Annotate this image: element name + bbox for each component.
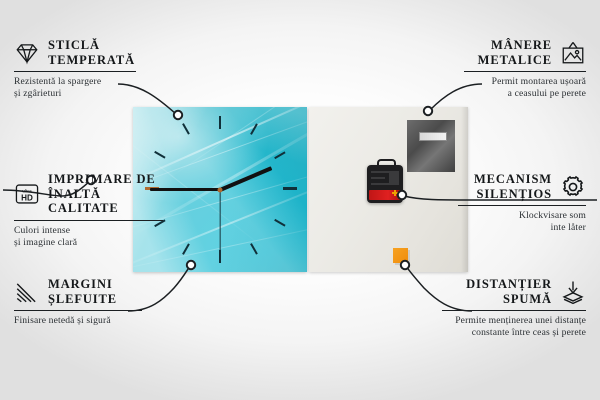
battery-plus-icon (392, 190, 398, 196)
hanger-slot (419, 132, 447, 141)
feature-polished-edges: MARGINI ȘLEFUITE Finisare netedă și sigu… (14, 277, 142, 327)
clock-back-panel (309, 107, 468, 272)
metal-hanger (407, 120, 455, 172)
feature-title: DISTANȚIER SPUMĂ (466, 277, 552, 306)
gear-icon (560, 174, 586, 200)
feature-title-row: MECANISM SILENȚIOS (458, 172, 586, 201)
feature-title-row: MÂNERE METALICE (464, 38, 586, 67)
ultra-hd-icon: ultra HD (14, 181, 40, 207)
feature-sub-line1: Permit montarea ușoară (464, 76, 586, 88)
diamond-icon (14, 40, 40, 66)
divider (458, 205, 586, 206)
svg-text:HD: HD (21, 193, 33, 202)
feature-sub-line1: Finisare netedă și sigură (14, 315, 142, 327)
feature-title-row: ultra HD IMPRIMARE DE ÎNALTĂ CALITATE (14, 172, 163, 216)
feature-title: MARGINI ȘLEFUITE (48, 277, 117, 306)
feature-sub-line2: inte låter (458, 222, 586, 234)
feature-metal-handles: MÂNERE METALICE Permit montarea ușoară a… (464, 38, 586, 100)
picture-frame-icon (560, 40, 586, 66)
diagonal-lines-icon (14, 279, 40, 305)
divider (14, 220, 163, 221)
feature-sub-line1: Klockvisare som (458, 210, 586, 222)
hands-center-cap (218, 187, 223, 192)
feature-title: IMPRIMARE DE ÎNALTĂ CALITATE (48, 172, 163, 216)
feature-title: MÂNERE METALICE (478, 38, 552, 67)
feature-sub-line2: a ceasului pe perete (464, 88, 586, 100)
second-hand (219, 190, 220, 262)
feature-title-row: MARGINI ȘLEFUITE (14, 277, 142, 306)
feature-sub-line2: și zgârieturi (14, 88, 136, 100)
feature-foam-spacer: DISTANȚIER SPUMĂ Permite menținerea unei… (442, 277, 586, 339)
divider (14, 310, 142, 311)
divider (442, 310, 586, 311)
feature-hd-print: ultra HD IMPRIMARE DE ÎNALTĂ CALITATE Cu… (14, 172, 163, 249)
feature-sub-line1: Culori intense (14, 225, 163, 237)
battery (369, 190, 401, 200)
feature-sub-line2: și imagine clară (14, 237, 163, 249)
divider (14, 71, 136, 72)
feature-tempered-glass: STICLĂ TEMPERATĂ Rezistentă la spargere … (14, 38, 136, 100)
feature-title: STICLĂ TEMPERATĂ (48, 38, 135, 67)
feature-sub-line1: Permite menținerea unei distanțe (442, 315, 586, 327)
feature-title-row: STICLĂ TEMPERATĂ (14, 38, 136, 67)
feature-sub-line1: Rezistentă la spargere (14, 76, 136, 88)
feature-title-row: DISTANȚIER SPUMĂ (442, 277, 586, 306)
infographic-canvas: STICLĂ TEMPERATĂ Rezistentă la spargere … (0, 0, 600, 400)
feature-title: MECANISM SILENȚIOS (474, 172, 552, 201)
arrow-down-layers-icon (560, 279, 586, 305)
feature-silent-mechanism: MECANISM SILENȚIOS Klockvisare som inte … (458, 172, 586, 234)
divider (464, 71, 586, 72)
clock-movement (367, 165, 403, 203)
feature-sub-line2: constante între ceas și perete (442, 327, 586, 339)
foam-spacer-part (393, 248, 408, 263)
product-photo (133, 107, 468, 272)
movement-bracket (377, 159, 396, 169)
